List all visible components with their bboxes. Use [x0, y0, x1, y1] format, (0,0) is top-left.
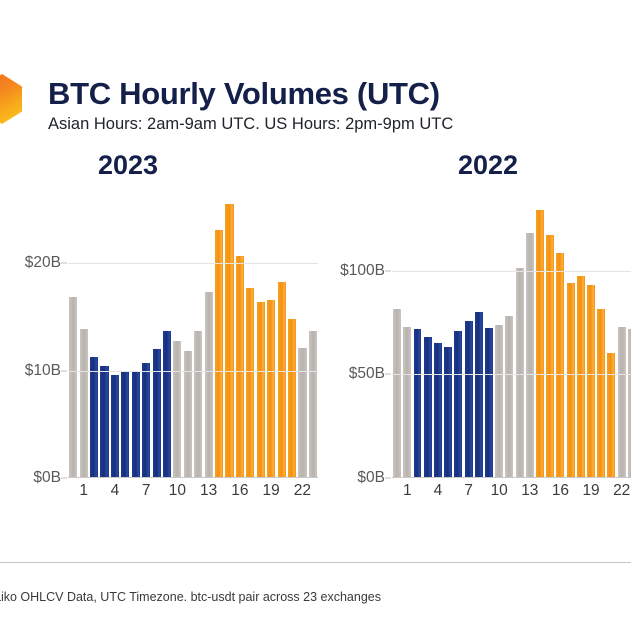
bar-hour-10	[495, 325, 503, 477]
y-tick-label: $0B	[33, 469, 61, 487]
bar-slot	[183, 188, 193, 477]
x-axis-line	[68, 477, 318, 478]
bar-slot	[141, 188, 151, 477]
bar-slot	[235, 188, 245, 477]
bar-slot	[525, 188, 535, 477]
bar-slot	[555, 188, 565, 477]
bar-slot	[484, 188, 494, 477]
bar-slot	[256, 188, 266, 477]
bar-slot	[586, 188, 596, 477]
bar-hour-6	[454, 331, 462, 477]
bar-hour-18	[577, 276, 585, 477]
bar-hour-5	[121, 372, 129, 477]
bar-slot	[120, 188, 130, 477]
bar-slot	[276, 188, 286, 477]
x-tick-label: 4	[434, 482, 443, 500]
bar-slot	[433, 188, 443, 477]
x-tick-label: 22	[613, 482, 630, 500]
bar-slot	[162, 188, 172, 477]
bar-hour-22	[298, 348, 306, 477]
bar-slot	[287, 188, 297, 477]
bar-slot	[110, 188, 120, 477]
bar-slot	[453, 188, 463, 477]
x-tick-label: 19	[582, 482, 599, 500]
bar-slot	[494, 188, 504, 477]
bar-slot	[245, 188, 255, 477]
bar-slot	[89, 188, 99, 477]
bar-hour-22	[618, 327, 626, 477]
plot-area-2022: 1471013161922 $0B$50B$100B	[392, 188, 631, 478]
x-tick-labels-2022: 1471013161922	[392, 482, 631, 506]
x-tick-label: 13	[521, 482, 538, 500]
bar-hour-17	[567, 283, 575, 477]
bar-hour-23	[309, 331, 317, 477]
bar-slot	[463, 188, 473, 477]
bar-hour-2	[414, 329, 422, 477]
bar-hour-5	[444, 347, 452, 478]
bar-hour-2	[90, 357, 98, 477]
x-tick-label: 22	[294, 482, 311, 500]
bar-slot	[412, 188, 422, 477]
bar-slot	[474, 188, 484, 477]
plot-area-2023: 1471013161922 $0B$10B$20B	[68, 188, 318, 478]
bar-slot	[514, 188, 524, 477]
gridline	[392, 271, 631, 272]
bar-slot	[535, 188, 545, 477]
gridline	[68, 371, 318, 372]
gridline	[68, 263, 318, 264]
x-tick-label: 13	[200, 482, 217, 500]
page-subtitle: Asian Hours: 2am-9am UTC. US Hours: 2pm-…	[48, 115, 453, 134]
bar-hour-16	[236, 256, 244, 477]
bar-slot	[504, 188, 514, 477]
bar-hour-15	[225, 204, 233, 477]
bar-hour-0	[393, 309, 401, 477]
bar-hour-1	[80, 329, 88, 477]
bar-hour-9	[163, 331, 171, 477]
bar-slot	[606, 188, 616, 477]
x-tick-label: 7	[464, 482, 473, 500]
x-tick-label: 10	[491, 482, 508, 500]
bar-slot	[308, 188, 318, 477]
bar-hour-3	[424, 337, 432, 477]
bar-hour-3	[100, 366, 108, 477]
bar-slot	[596, 188, 606, 477]
bar-hour-14	[215, 230, 223, 477]
x-tick-label: 10	[169, 482, 186, 500]
footer-divider	[0, 562, 631, 563]
y-tick-label: $50B	[349, 365, 385, 383]
chart-panel-2022: 2022 1471013161922 $0B$50B$100B	[330, 150, 631, 520]
bar-hour-8	[475, 312, 483, 477]
bar-hour-19	[267, 300, 275, 477]
x-tick-label: 1	[79, 482, 88, 500]
bar-slot	[565, 188, 575, 477]
y-tick-mark	[61, 370, 67, 371]
y-tick-mark	[61, 478, 67, 479]
bar-hour-14	[536, 210, 544, 477]
bar-hour-4	[111, 375, 119, 477]
bar-hour-17	[246, 288, 254, 477]
y-tick-mark	[61, 263, 67, 264]
bar-hour-21	[288, 319, 296, 477]
bar-hour-0	[69, 297, 77, 477]
gridline	[392, 374, 631, 375]
y-tick-mark	[385, 478, 391, 479]
bar-hour-13	[526, 233, 534, 477]
bar-slot	[627, 188, 631, 477]
y-tick-label: $10B	[25, 362, 61, 380]
bar-hour-20	[597, 309, 605, 477]
y-tick-label: $100B	[340, 262, 385, 280]
bar-slot	[392, 188, 402, 477]
y-tick-mark	[385, 270, 391, 271]
chart-panel-2023: 2023 1471013161922 $0B$10B$20B	[0, 150, 320, 520]
x-tick-label: 7	[142, 482, 151, 500]
bar-hour-4	[434, 343, 442, 477]
bar-hour-6	[132, 372, 140, 477]
page-title: BTC Hourly Volumes (UTC)	[48, 76, 440, 112]
bar-hour-19	[587, 285, 595, 477]
bar-hour-11	[505, 316, 513, 477]
bar-hour-9	[485, 328, 493, 477]
bar-hour-7	[465, 321, 473, 477]
chart-title-2023: 2023	[98, 150, 158, 181]
bar-slot	[297, 188, 307, 477]
bar-slot	[68, 188, 78, 477]
bar-hour-12	[516, 268, 524, 477]
bar-slot	[99, 188, 109, 477]
bar-hour-10	[173, 341, 181, 477]
bar-hour-8	[153, 349, 161, 477]
bar-slot	[616, 188, 626, 477]
bar-slot	[203, 188, 213, 477]
bar-series-2022	[392, 188, 631, 477]
bar-hour-7	[142, 363, 150, 477]
footer-source-text: aiko OHLCV Data, UTC Timezone. btc-usdt …	[0, 590, 381, 604]
bar-series-2023	[68, 188, 318, 477]
bar-slot	[131, 188, 141, 477]
bar-slot	[545, 188, 555, 477]
bar-slot	[266, 188, 276, 477]
chart-title-2022: 2022	[458, 150, 518, 181]
y-tick-label: $0B	[357, 469, 385, 487]
bar-slot	[172, 188, 182, 477]
bar-slot	[224, 188, 234, 477]
bar-hour-13	[205, 292, 213, 477]
bar-slot	[151, 188, 161, 477]
bar-slot	[576, 188, 586, 477]
bar-hour-18	[257, 302, 265, 477]
x-tick-label: 19	[263, 482, 280, 500]
kaiko-hexagon-logo-icon	[0, 74, 22, 124]
x-axis-line	[392, 477, 631, 478]
x-tick-label: 4	[111, 482, 120, 500]
bar-slot	[443, 188, 453, 477]
x-tick-label: 16	[552, 482, 569, 500]
bar-slot	[78, 188, 88, 477]
chart-page: BTC Hourly Volumes (UTC) Asian Hours: 2a…	[0, 0, 631, 632]
x-tick-labels-2023: 1471013161922	[68, 482, 318, 506]
x-tick-label: 16	[231, 482, 248, 500]
bar-slot	[214, 188, 224, 477]
x-tick-label: 1	[403, 482, 412, 500]
bar-slot	[402, 188, 412, 477]
y-tick-mark	[385, 374, 391, 375]
y-tick-label: $20B	[25, 254, 61, 272]
bar-slot	[193, 188, 203, 477]
bar-hour-20	[278, 282, 286, 477]
bar-hour-12	[194, 331, 202, 477]
bar-hour-21	[607, 353, 615, 477]
bar-hour-16	[556, 253, 564, 477]
bar-hour-1	[403, 327, 411, 477]
bar-slot	[423, 188, 433, 477]
